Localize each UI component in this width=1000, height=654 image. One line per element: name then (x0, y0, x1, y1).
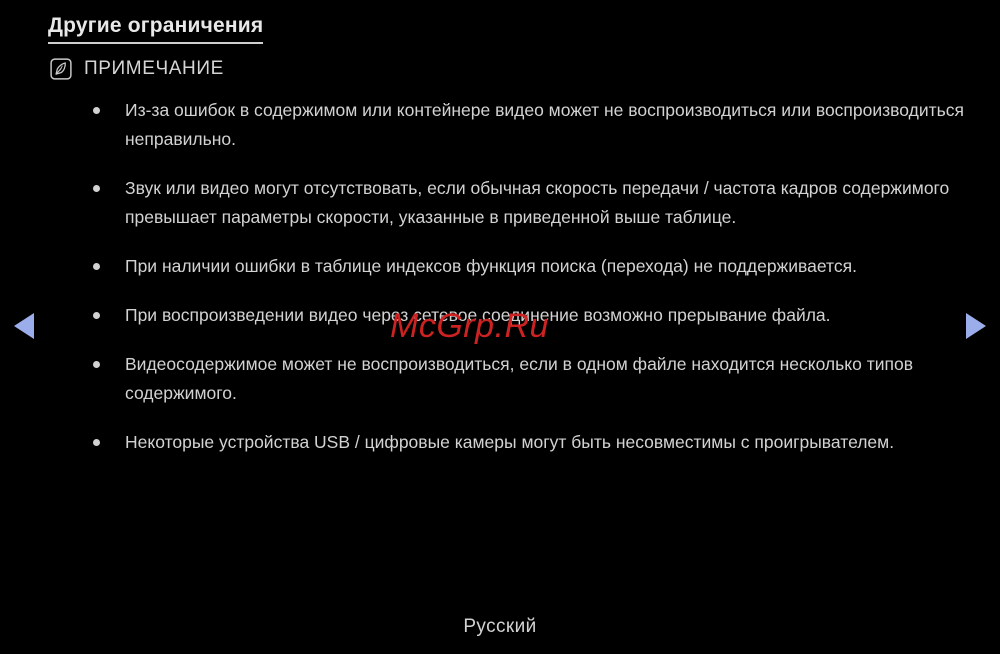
list-item-text: Звук или видео могут отсутствовать, если… (125, 174, 972, 232)
list-item: Звук или видео могут отсутствовать, если… (92, 174, 972, 232)
list-item-text: Некоторые устройства USB / цифровые каме… (125, 428, 972, 457)
restrictions-list: Из-за ошибок в содержимом или контейнере… (92, 96, 972, 477)
list-item-text: При воспроизведении видео через сетевое … (125, 301, 972, 330)
list-item-text: При наличии ошибки в таблице индексов фу… (125, 252, 972, 281)
manual-page-screen: Другие ограничения ПРИМЕЧАНИЕ Из-за ошиб… (0, 0, 1000, 654)
triangle-right-icon[interactable] (966, 313, 986, 339)
bullet-dot-icon (93, 185, 100, 192)
triangle-left-icon[interactable] (14, 313, 34, 339)
list-item-text: Видеосодержимое может не воспроизводитьс… (125, 350, 972, 408)
note-label: ПРИМЕЧАНИЕ (84, 58, 224, 80)
bullet-dot-icon (93, 107, 100, 114)
bullet-dot-icon (93, 263, 100, 270)
list-item-text: Из-за ошибок в содержимом или контейнере… (125, 96, 972, 154)
bullet-dot-icon (93, 312, 100, 319)
list-item: Некоторые устройства USB / цифровые каме… (92, 428, 972, 457)
page-title: Другие ограничения (48, 14, 263, 44)
note-pen-icon (50, 58, 72, 80)
list-item: При наличии ошибки в таблице индексов фу… (92, 252, 972, 281)
note-heading: ПРИМЕЧАНИЕ (50, 58, 224, 80)
bullet-dot-icon (93, 361, 100, 368)
footer-language-label: Русский (0, 616, 1000, 638)
bullet-dot-icon (93, 439, 100, 446)
list-item: Из-за ошибок в содержимом или контейнере… (92, 96, 972, 154)
list-item: Видеосодержимое может не воспроизводитьс… (92, 350, 972, 408)
list-item: При воспроизведении видео через сетевое … (92, 301, 972, 330)
